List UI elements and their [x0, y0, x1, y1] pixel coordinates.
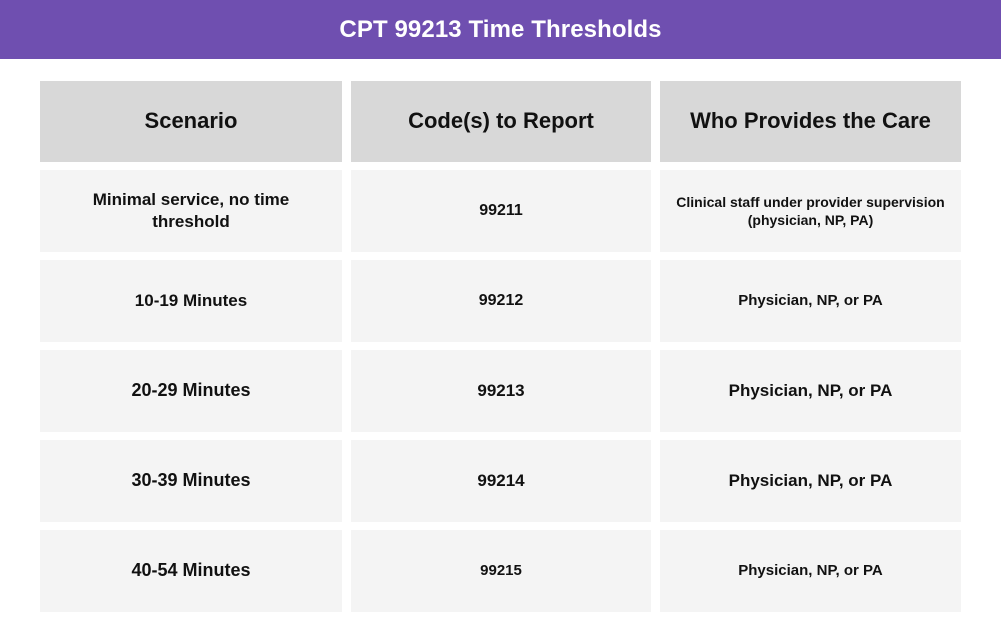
- cell-provider: Physician, NP, or PA: [660, 260, 961, 342]
- cell-provider: Physician, NP, or PA: [660, 440, 961, 522]
- cpt-time-thresholds-table: Scenario Code(s) to Report Who Provides …: [31, 73, 970, 620]
- infographic-page: CPT 99213 Time Thresholds Scenario Code(…: [0, 0, 1001, 634]
- cell-code: 99211: [351, 170, 651, 252]
- cell-provider: Physician, NP, or PA: [660, 350, 961, 432]
- cell-code: 99213: [351, 350, 651, 432]
- table-container: Scenario Code(s) to Report Who Provides …: [0, 59, 1001, 620]
- column-header-provider: Who Provides the Care: [660, 81, 961, 162]
- table-row: 10-19 Minutes 99212 Physician, NP, or PA: [40, 260, 961, 342]
- table-header: Scenario Code(s) to Report Who Provides …: [40, 81, 961, 162]
- cell-provider: Clinical staff under provider supervisio…: [660, 170, 961, 252]
- cell-code: 99215: [351, 530, 651, 612]
- table-row: 40-54 Minutes 99215 Physician, NP, or PA: [40, 530, 961, 612]
- column-header-code: Code(s) to Report: [351, 81, 651, 162]
- cell-scenario: 10-19 Minutes: [40, 260, 342, 342]
- page-title: CPT 99213 Time Thresholds: [339, 18, 661, 42]
- table-row: 30-39 Minutes 99214 Physician, NP, or PA: [40, 440, 961, 522]
- cell-scenario: 40-54 Minutes: [40, 530, 342, 612]
- cell-code: 99214: [351, 440, 651, 522]
- table-body: Minimal service, no time threshold 99211…: [40, 170, 961, 612]
- cell-scenario: 20-29 Minutes: [40, 350, 342, 432]
- column-header-scenario: Scenario: [40, 81, 342, 162]
- cell-scenario: Minimal service, no time threshold: [40, 170, 342, 252]
- cell-scenario: 30-39 Minutes: [40, 440, 342, 522]
- table-row: Minimal service, no time threshold 99211…: [40, 170, 961, 252]
- cell-provider: Physician, NP, or PA: [660, 530, 961, 612]
- table-row: 20-29 Minutes 99213 Physician, NP, or PA: [40, 350, 961, 432]
- cell-code: 99212: [351, 260, 651, 342]
- table-header-row: Scenario Code(s) to Report Who Provides …: [40, 81, 961, 162]
- title-banner: CPT 99213 Time Thresholds: [0, 0, 1001, 59]
